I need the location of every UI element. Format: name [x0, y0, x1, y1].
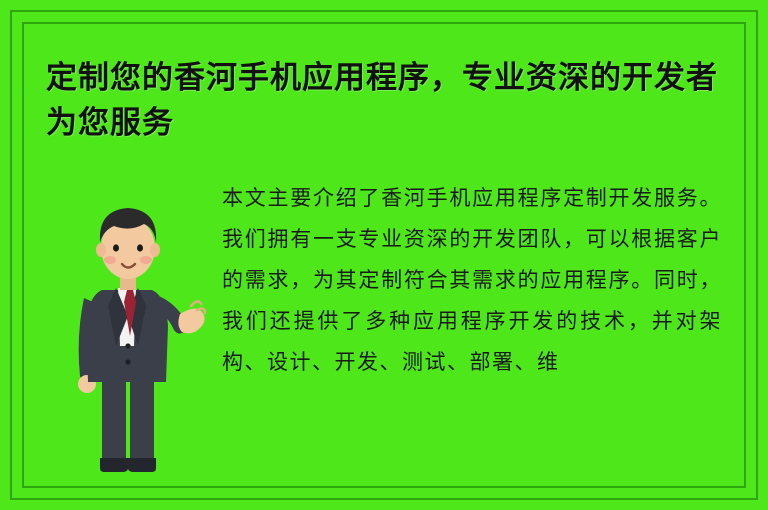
- poster-canvas: 定制您的香河手机应用程序，专业资深的开发者为您服务: [0, 0, 768, 510]
- body-paragraph: 本文主要介绍了香河手机应用程序定制开发服务。我们拥有一支专业资深的开发团队，可以…: [222, 178, 722, 383]
- page-title: 定制您的香河手机应用程序，专业资深的开发者为您服务: [46, 56, 736, 146]
- businessman-waving-illustration: [58, 186, 208, 476]
